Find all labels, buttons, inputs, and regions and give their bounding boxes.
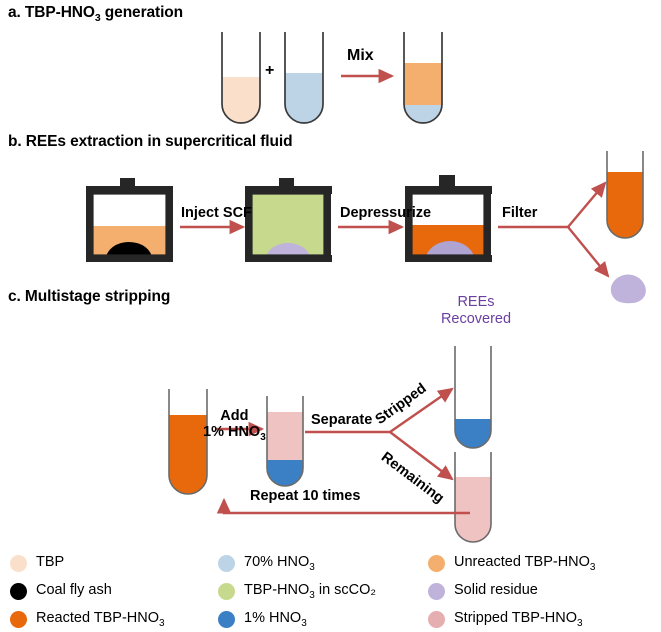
reactor-scco2 [245, 178, 332, 275]
legend-item-solid-residue: Solid residue [428, 582, 538, 601]
tube-hno3-70 [285, 32, 323, 128]
legend-dot-solid-residue [428, 583, 445, 600]
legend-label-reacted-tbp-hno3: Reacted TBP-HNO3 [36, 610, 165, 629]
legend: TBP Coal fly ash Reacted TBP-HNO3 70% HN… [0, 548, 661, 632]
rees-line-2: Recovered [441, 311, 511, 327]
label-depressurize: Depressurize [340, 205, 431, 221]
product-tube [607, 151, 643, 242]
legend-label-unreacted-tbp-hno3: Unreacted TBP-HNO3 [454, 554, 595, 573]
tube-reacted [169, 389, 207, 497]
legend-item-70-hno3: 70% HNO3 [218, 554, 315, 573]
legend-item-1-hno3: 1% HNO3 [218, 610, 307, 629]
legend-dot-1-hno3 [218, 611, 235, 628]
label-1pct-hno3: 1% HNO3 [203, 424, 266, 443]
label-mix: Mix [347, 47, 374, 65]
legend-item-tbp: TBP [10, 554, 64, 573]
legend-dot-tbp-hno3-scco2 [218, 583, 235, 600]
figure-canvas: a. TBP-HNO3 generation b. REEs extractio… [0, 0, 661, 632]
legend-item-reacted-tbp-hno3: Reacted TBP-HNO3 [10, 610, 165, 629]
legend-dot-tbp [10, 555, 27, 572]
legend-label-coal-fly-ash: Coal fly ash [36, 582, 112, 601]
tube-remaining [455, 452, 491, 547]
label-filter: Filter [502, 205, 537, 221]
diagram-graphics [0, 0, 661, 632]
reactor-depressurized [405, 175, 492, 283]
legend-dot-unreacted-tbp-hno3 [428, 555, 445, 572]
arrow-filter-to-residue [568, 227, 608, 276]
tube-tbp [222, 32, 260, 127]
plus-sign: + [265, 62, 274, 80]
arrow-filter-to-product [568, 183, 605, 227]
legend-dot-stripped-tbp-hno3 [428, 611, 445, 628]
tube-stripped-product [455, 346, 491, 453]
reactor-feed [86, 178, 173, 276]
legend-item-stripped-tbp-hno3: Stripped TBP-HNO3 [428, 610, 583, 629]
legend-label-tbp: TBP [36, 554, 64, 573]
legend-label-70-hno3: 70% HNO3 [244, 554, 315, 573]
legend-dot-70-hno3 [218, 555, 235, 572]
label-separate: Separate [311, 412, 372, 428]
legend-label-stripped-tbp-hno3: Stripped TBP-HNO3 [454, 610, 583, 629]
tube-stripping [267, 396, 303, 490]
legend-dot-coal-fly-ash [10, 583, 27, 600]
tube-mixed [404, 32, 442, 130]
legend-item-coal-fly-ash: Coal fly ash [10, 582, 112, 601]
rees-line-1: REEs [457, 294, 494, 310]
legend-item-unreacted-tbp-hno3: Unreacted TBP-HNO3 [428, 554, 595, 573]
legend-label-tbp-hno3-scco2: TBP-HNO3 in scCO₂ [244, 582, 376, 601]
legend-label-solid-residue: Solid residue [454, 582, 538, 601]
solid-residue-blob [611, 275, 646, 304]
legend-label-1-hno3: 1% HNO3 [244, 610, 307, 629]
label-repeat-10-times: Repeat 10 times [250, 488, 360, 504]
label-add: Add [203, 408, 266, 424]
label-inject-scf: Inject SCF [181, 205, 252, 221]
legend-item-tbp-hno3-scco2: TBP-HNO3 in scCO₂ [218, 582, 376, 601]
label-add-hno3: Add 1% HNO3 [203, 408, 266, 443]
rees-recovered-label: REEs Recovered [432, 294, 520, 327]
legend-dot-reacted-tbp-hno3 [10, 611, 27, 628]
